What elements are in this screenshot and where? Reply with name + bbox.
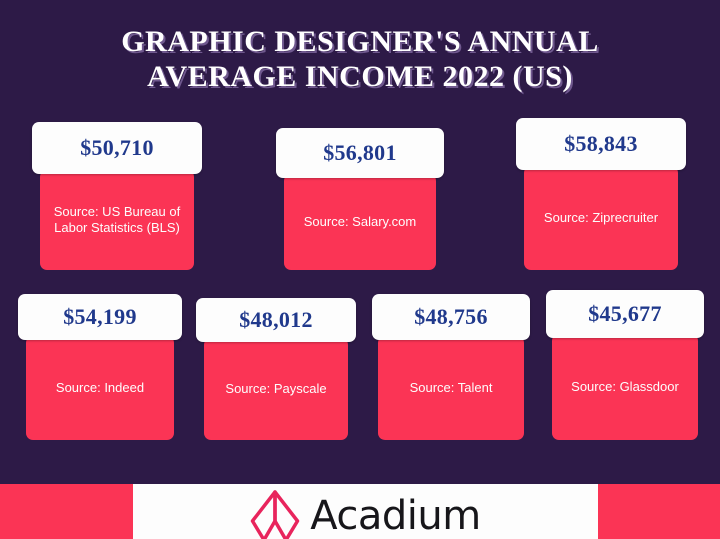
income-amount: $48,756 [414,304,488,330]
brand-name: Acadium [310,496,480,536]
income-amount: $58,843 [564,131,638,157]
page-title-line-2: AVERAGE INCOME 2022 (US) [0,59,720,94]
acadium-diamond-icon [250,490,300,539]
income-card: $50,710 Source: US Bureau of Labor Stati… [32,122,202,270]
income-source-label: Source: Payscale [219,381,332,397]
income-source-label: Source: Salary.com [298,214,422,230]
income-source-label: Source: Indeed [50,380,150,396]
income-card-header: $50,710 [32,122,202,174]
income-amount: $56,801 [323,140,397,166]
income-amount: $45,677 [588,301,662,327]
brand-logo: Acadium [250,490,480,539]
page-title: GRAPHIC DESIGNER'S ANNUAL AVERAGE INCOME… [0,24,720,94]
income-card-header: $48,012 [196,298,356,342]
income-card-header: $45,677 [546,290,704,338]
footer-accent-right [598,484,720,539]
income-source-label: Source: Ziprecruiter [538,210,664,226]
income-card-body: Source: Glassdoor [552,334,698,440]
income-card-body: Source: Salary.com [284,174,436,270]
income-card-body: Source: Talent [378,336,524,440]
income-card: $58,843 Source: Ziprecruiter [516,118,686,270]
footer-accent-left [0,484,133,539]
infographic-root: GRAPHIC DESIGNER'S ANNUAL AVERAGE INCOME… [0,0,720,539]
income-card: $48,012 Source: Payscale [196,298,356,440]
income-card-header: $48,756 [372,294,530,340]
income-amount: $54,199 [63,304,137,330]
income-card-header: $58,843 [516,118,686,170]
income-source-label: Source: Talent [404,380,499,396]
income-card-body: Source: Indeed [26,336,174,440]
income-amount: $48,012 [239,307,313,333]
income-card-header: $54,199 [18,294,182,340]
footer-bar: Acadium [0,484,720,539]
income-amount: $50,710 [80,135,154,161]
income-card: $56,801 Source: Salary.com [276,128,444,270]
page-title-line-1: GRAPHIC DESIGNER'S ANNUAL [0,24,720,59]
income-card-body: Source: Payscale [204,338,348,440]
income-source-label: Source: US Bureau of Labor Statistics (B… [40,204,194,236]
income-card-header: $56,801 [276,128,444,178]
income-card-body: Source: US Bureau of Labor Statistics (B… [40,170,194,270]
income-card: $45,677 Source: Glassdoor [546,290,704,440]
income-source-label: Source: Glassdoor [565,379,685,395]
income-card: $48,756 Source: Talent [372,294,530,440]
footer-brand-area: Acadium [133,484,598,539]
income-card-body: Source: Ziprecruiter [524,166,678,270]
income-card: $54,199 Source: Indeed [18,294,182,440]
